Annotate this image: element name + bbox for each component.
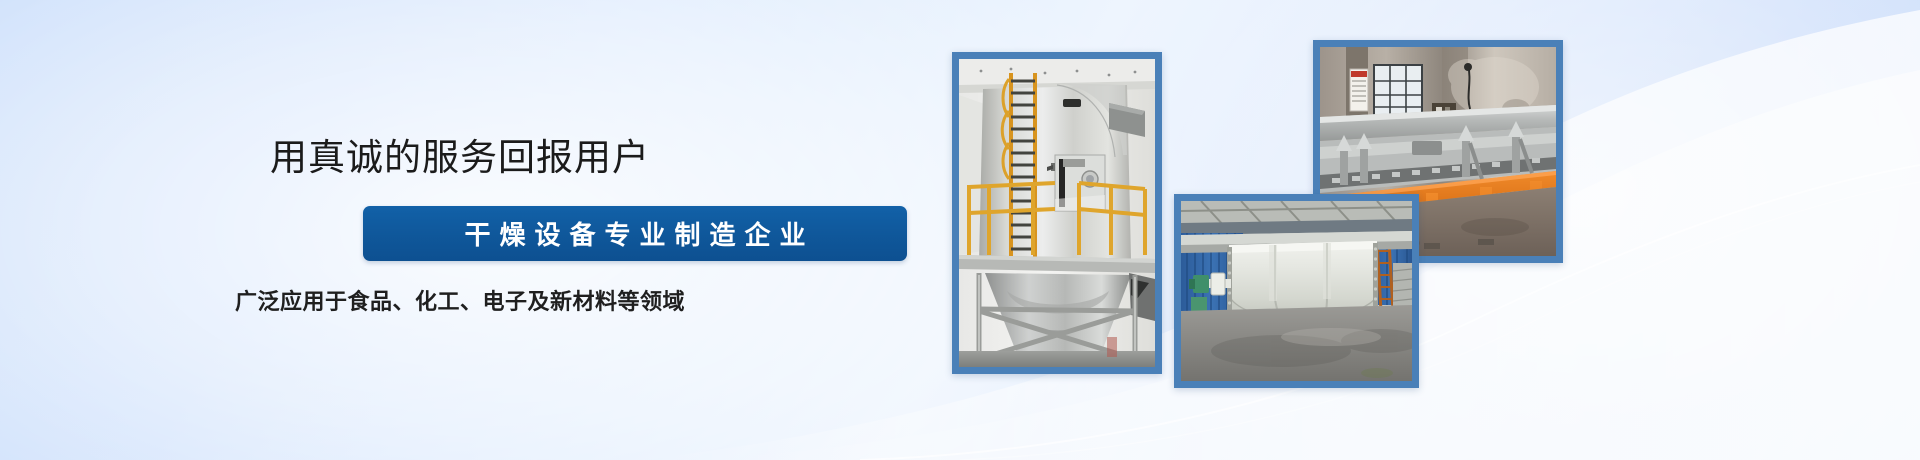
hero-headline: 用真诚的服务回报用户 [0,139,920,176]
spray-drying-tower-photo [952,52,1162,374]
hero-ribbon-label: 干燥设备专业制造企业 [363,206,907,261]
ribbon-mixer-photo [1174,194,1419,388]
hero-subline: 广泛应用于食品、化工、电子及新材料等领域 [0,292,920,314]
ribbon-mixer-image [1181,201,1412,381]
hero-banner: 用真诚的服务回报用户 干燥设备专业制造企业 广泛应用于食品、化工、电子及新材料等… [0,0,1920,460]
hero-ribbon: 干燥设备专业制造企业 [363,206,907,261]
hero-text-block: 用真诚的服务回报用户 干燥设备专业制造企业 广泛应用于食品、化工、电子及新材料等… [0,0,920,460]
spray-drying-tower-image [959,59,1155,367]
